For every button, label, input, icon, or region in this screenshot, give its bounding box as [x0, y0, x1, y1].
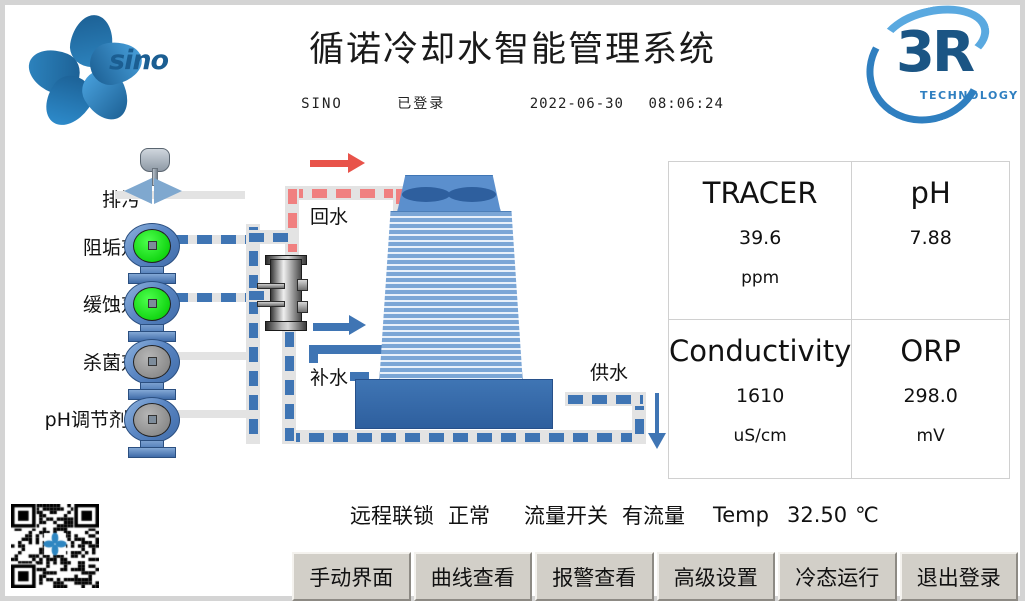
manual-interface-button[interactable]: 手动界面 [292, 552, 411, 601]
readout-value: 7.88 [909, 227, 951, 249]
flow-switch-label: 流量开关 [524, 500, 608, 530]
supply-pipe-outlet [568, 395, 643, 404]
flow-switch-value: 有流量 [622, 500, 685, 530]
remote-interlock-value: 正常 [448, 500, 490, 530]
biocide-dosing-line [173, 352, 253, 360]
current-date: 2022-06-30 [530, 96, 624, 112]
temperature-label: Temp [713, 503, 769, 527]
readout-unit: ppm [741, 268, 779, 288]
return-flow-arrow-shaft [310, 160, 350, 167]
ph-adjuster-dosing-line [173, 410, 253, 418]
remote-interlock-label: 远程联锁 [350, 500, 434, 530]
readout-unit: uS/cm [734, 426, 787, 446]
readout-name: ORP [900, 336, 960, 368]
biocide-pump[interactable] [120, 339, 182, 401]
antiscalant-dosing-line [173, 235, 253, 244]
supply-flow-arrow-shaft [655, 393, 659, 435]
readout-value: 298.0 [903, 385, 957, 407]
valve-body-left-icon [124, 178, 152, 204]
application-window: sino 循诺冷却水智能管理系统 SINO 已登录 2022-06-30 08:… [0, 0, 1025, 601]
bottom-button-bar: 手动界面 曲线查看 报警查看 高级设置 冷态运行 退出登录 [292, 552, 1018, 601]
return-flow-arrow-head [348, 153, 365, 173]
readout-conductivity: Conductivity 1610 uS/cm [669, 320, 852, 478]
temperature-unit: ℃ [855, 503, 879, 527]
advanced-settings-button[interactable]: 高级设置 [657, 552, 776, 601]
corrosion-inhibitor-pump[interactable] [120, 281, 182, 343]
analyzer-probe-icon [257, 283, 285, 289]
header: sino 循诺冷却水智能管理系统 SINO 已登录 2022-06-30 08:… [5, 5, 1020, 125]
analyzer-probe-icon [257, 301, 285, 307]
label-makeup-water: 补水 [308, 363, 350, 390]
user-name: SINO [301, 96, 343, 112]
label-return-water: 回水 [308, 202, 350, 229]
three-r-technology-logo: 3R TECHNOLOGY [864, 7, 1014, 117]
readout-tracer: TRACER 39.6 ppm [669, 162, 852, 320]
water-quality-analyzer[interactable] [263, 251, 309, 335]
status-bar: 远程联锁 正常 流量开关 有流量 Temp 32.50 ℃ [350, 499, 1010, 531]
analyzer-port-icon [297, 301, 308, 313]
current-time: 08:06:24 [648, 96, 723, 112]
readout-value: 39.6 [739, 227, 781, 249]
analyzer-port-icon [297, 279, 308, 291]
readout-ph: pH 7.88 [852, 162, 1009, 320]
pump-hub-icon [148, 241, 157, 250]
alarm-view-button[interactable]: 报警查看 [535, 552, 654, 601]
supply-pipe-branch1 [249, 233, 295, 242]
logout-button[interactable]: 退出登录 [900, 552, 1019, 601]
valve-body-right-icon [154, 178, 182, 204]
readout-value: 1610 [736, 385, 784, 407]
corrosion-inhibitor-dosing-line [173, 293, 253, 302]
pump-base-icon [128, 447, 176, 458]
cold-start-run-button[interactable]: 冷态运行 [778, 552, 897, 601]
temperature-value: 32.50 [787, 503, 847, 527]
readout-name: TRACER [703, 178, 818, 210]
fan-blade-icon [402, 187, 450, 202]
analyzer-bottom-cap-icon [265, 321, 307, 331]
pump-hub-icon [148, 357, 157, 366]
qr-code[interactable] [11, 504, 103, 592]
three-r-logo-subtext: TECHNOLOGY [920, 89, 1019, 102]
readout-unit: mV [917, 426, 945, 446]
supply-pipe-bottom [285, 433, 643, 442]
pump-hub-icon [148, 299, 157, 308]
readout-name: pH [911, 178, 951, 210]
qr-code-canvas [11, 504, 99, 588]
label-supply-water: 供水 [588, 358, 630, 385]
measurement-panel: TRACER 39.6 ppm pH 7.88 Conductivity 161… [668, 161, 1010, 479]
analyzer-chamber-icon [270, 259, 302, 325]
pump-hub-icon [148, 415, 157, 424]
fan-blade-icon [448, 187, 496, 202]
ph-adjuster-pump[interactable] [120, 397, 182, 459]
curve-view-button[interactable]: 曲线查看 [414, 552, 533, 601]
readout-name: Conductivity [669, 336, 851, 368]
login-status: 已登录 [397, 93, 445, 113]
tower-fan-housing [397, 175, 501, 213]
supply-pipe-left [249, 227, 258, 441]
antiscalant-pump[interactable] [120, 223, 182, 285]
tower-fill-pack [379, 211, 523, 385]
supply-flow-arrow-head [648, 433, 666, 449]
readout-orp: ORP 298.0 mV [852, 320, 1009, 478]
cooling-tower [345, 175, 561, 430]
dosing-label-ph-adjuster: pH调节剂 [0, 405, 128, 432]
tower-basin [355, 379, 553, 429]
three-r-logo-text: 3R [896, 25, 972, 81]
blowdown-valve[interactable] [122, 148, 186, 210]
